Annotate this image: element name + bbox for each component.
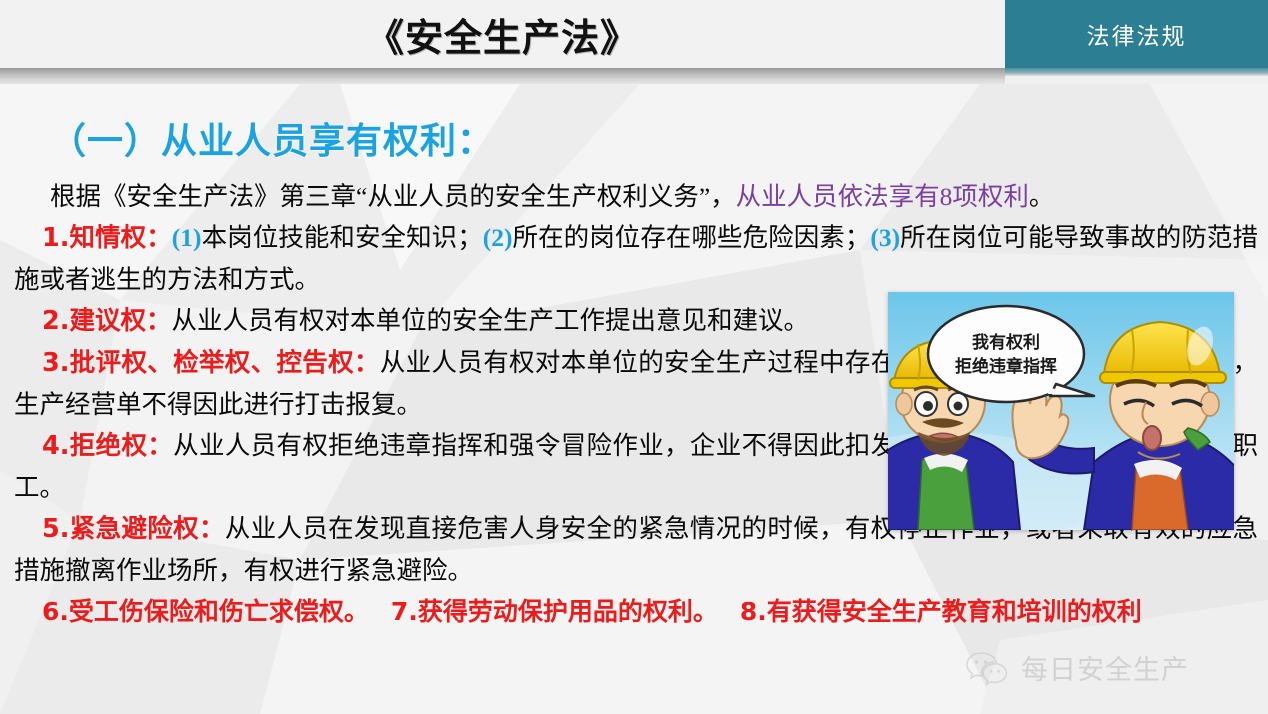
item-6-text: 受工伤保险和伤亡求偿权。 bbox=[69, 597, 369, 626]
cartoon-illustration: 我有权利 拒绝违章指挥 bbox=[888, 292, 1234, 530]
item-3-num: 3. bbox=[42, 348, 69, 378]
item-3-title: 批评权、检举权、控告权 bbox=[69, 348, 354, 378]
item-4-num: 4. bbox=[42, 431, 69, 461]
speech-bubble-line1: 我有权利 bbox=[972, 332, 1040, 353]
slide-header: 《安全生产法》 法律法规 bbox=[0, 0, 1268, 68]
item-4-title: 拒绝权 bbox=[69, 431, 147, 461]
item-1-colon: ： bbox=[146, 223, 172, 253]
item-5-num: 5. bbox=[42, 514, 69, 544]
item-3-colon: ： bbox=[354, 348, 380, 378]
header-shadow-bar bbox=[0, 68, 1005, 84]
category-badge: 法律法规 bbox=[1005, 0, 1268, 68]
item-4-colon: ： bbox=[147, 431, 173, 461]
item-1-num: 1. bbox=[42, 223, 69, 253]
item-1-sub-2-marker: (2) bbox=[483, 223, 513, 252]
item-5-colon: ： bbox=[199, 514, 225, 544]
intro-tail: 。 bbox=[1029, 182, 1055, 211]
item-2-num: 2. bbox=[42, 306, 69, 336]
intro-paragraph: 根据《安全生产法》第三章“从业人员的安全生产权利义务”，从业人员依法享有8项权利… bbox=[14, 176, 1258, 217]
item-5-title: 紧急避险权 bbox=[69, 514, 199, 544]
item-7-num: 7. bbox=[391, 597, 418, 626]
watermark: 每日安全生产 bbox=[965, 648, 1189, 687]
intro-lead: 根据《安全生产法》第三章“从业人员的安全生产权利义务”， bbox=[50, 182, 736, 211]
item-2-body: 从业人员有权对本单位的安全生产工作提出意见和建议。 bbox=[171, 306, 809, 335]
item-7-text: 获得劳动保护用品的权利。 bbox=[418, 597, 718, 626]
right-item-1: 1.知情权：(1)本岗位技能和安全知识；(2)所在的岗位存在哪些危险因素；(3)… bbox=[14, 217, 1258, 300]
slide: 《安全生产法》 法律法规 （一）从业人员享有权利： 根据《安全生产法》第三章“从… bbox=[0, 0, 1268, 714]
page-title: 《安全生产法》 bbox=[0, 0, 1005, 68]
speech-bubble-line2: 拒绝违章指挥 bbox=[955, 356, 1057, 377]
item-1-sub-1-text: 本岗位技能和安全知识； bbox=[202, 223, 483, 252]
item-6-num: 6. bbox=[42, 597, 69, 626]
item-1-title: 知情权 bbox=[69, 223, 146, 253]
intro-highlight: 从业人员依法享有8项权利 bbox=[736, 182, 1029, 211]
section-heading: （一）从业人员享有权利： bbox=[50, 112, 494, 164]
item-8-num: 8. bbox=[740, 597, 767, 626]
item-8-text: 有获得安全生产教育和培训的权利 bbox=[767, 597, 1142, 626]
item-2-title: 建议权 bbox=[69, 306, 146, 336]
item-1-sub-2-text: 所在的岗位存在哪些危险因素； bbox=[512, 223, 870, 252]
item-2-colon: ： bbox=[146, 306, 172, 336]
wechat-icon bbox=[965, 649, 1011, 687]
item-1-sub-3-marker: (3) bbox=[870, 223, 900, 252]
header-shadow-bar-right bbox=[1005, 68, 1268, 76]
item-1-sub-1-marker: (1) bbox=[172, 223, 202, 252]
watermark-text: 每日安全生产 bbox=[1021, 648, 1189, 687]
right-items-6-7-8: 6.受工伤保险和伤亡求偿权。7.获得劳动保护用品的权利。8.有获得安全生产教育和… bbox=[14, 591, 1258, 632]
